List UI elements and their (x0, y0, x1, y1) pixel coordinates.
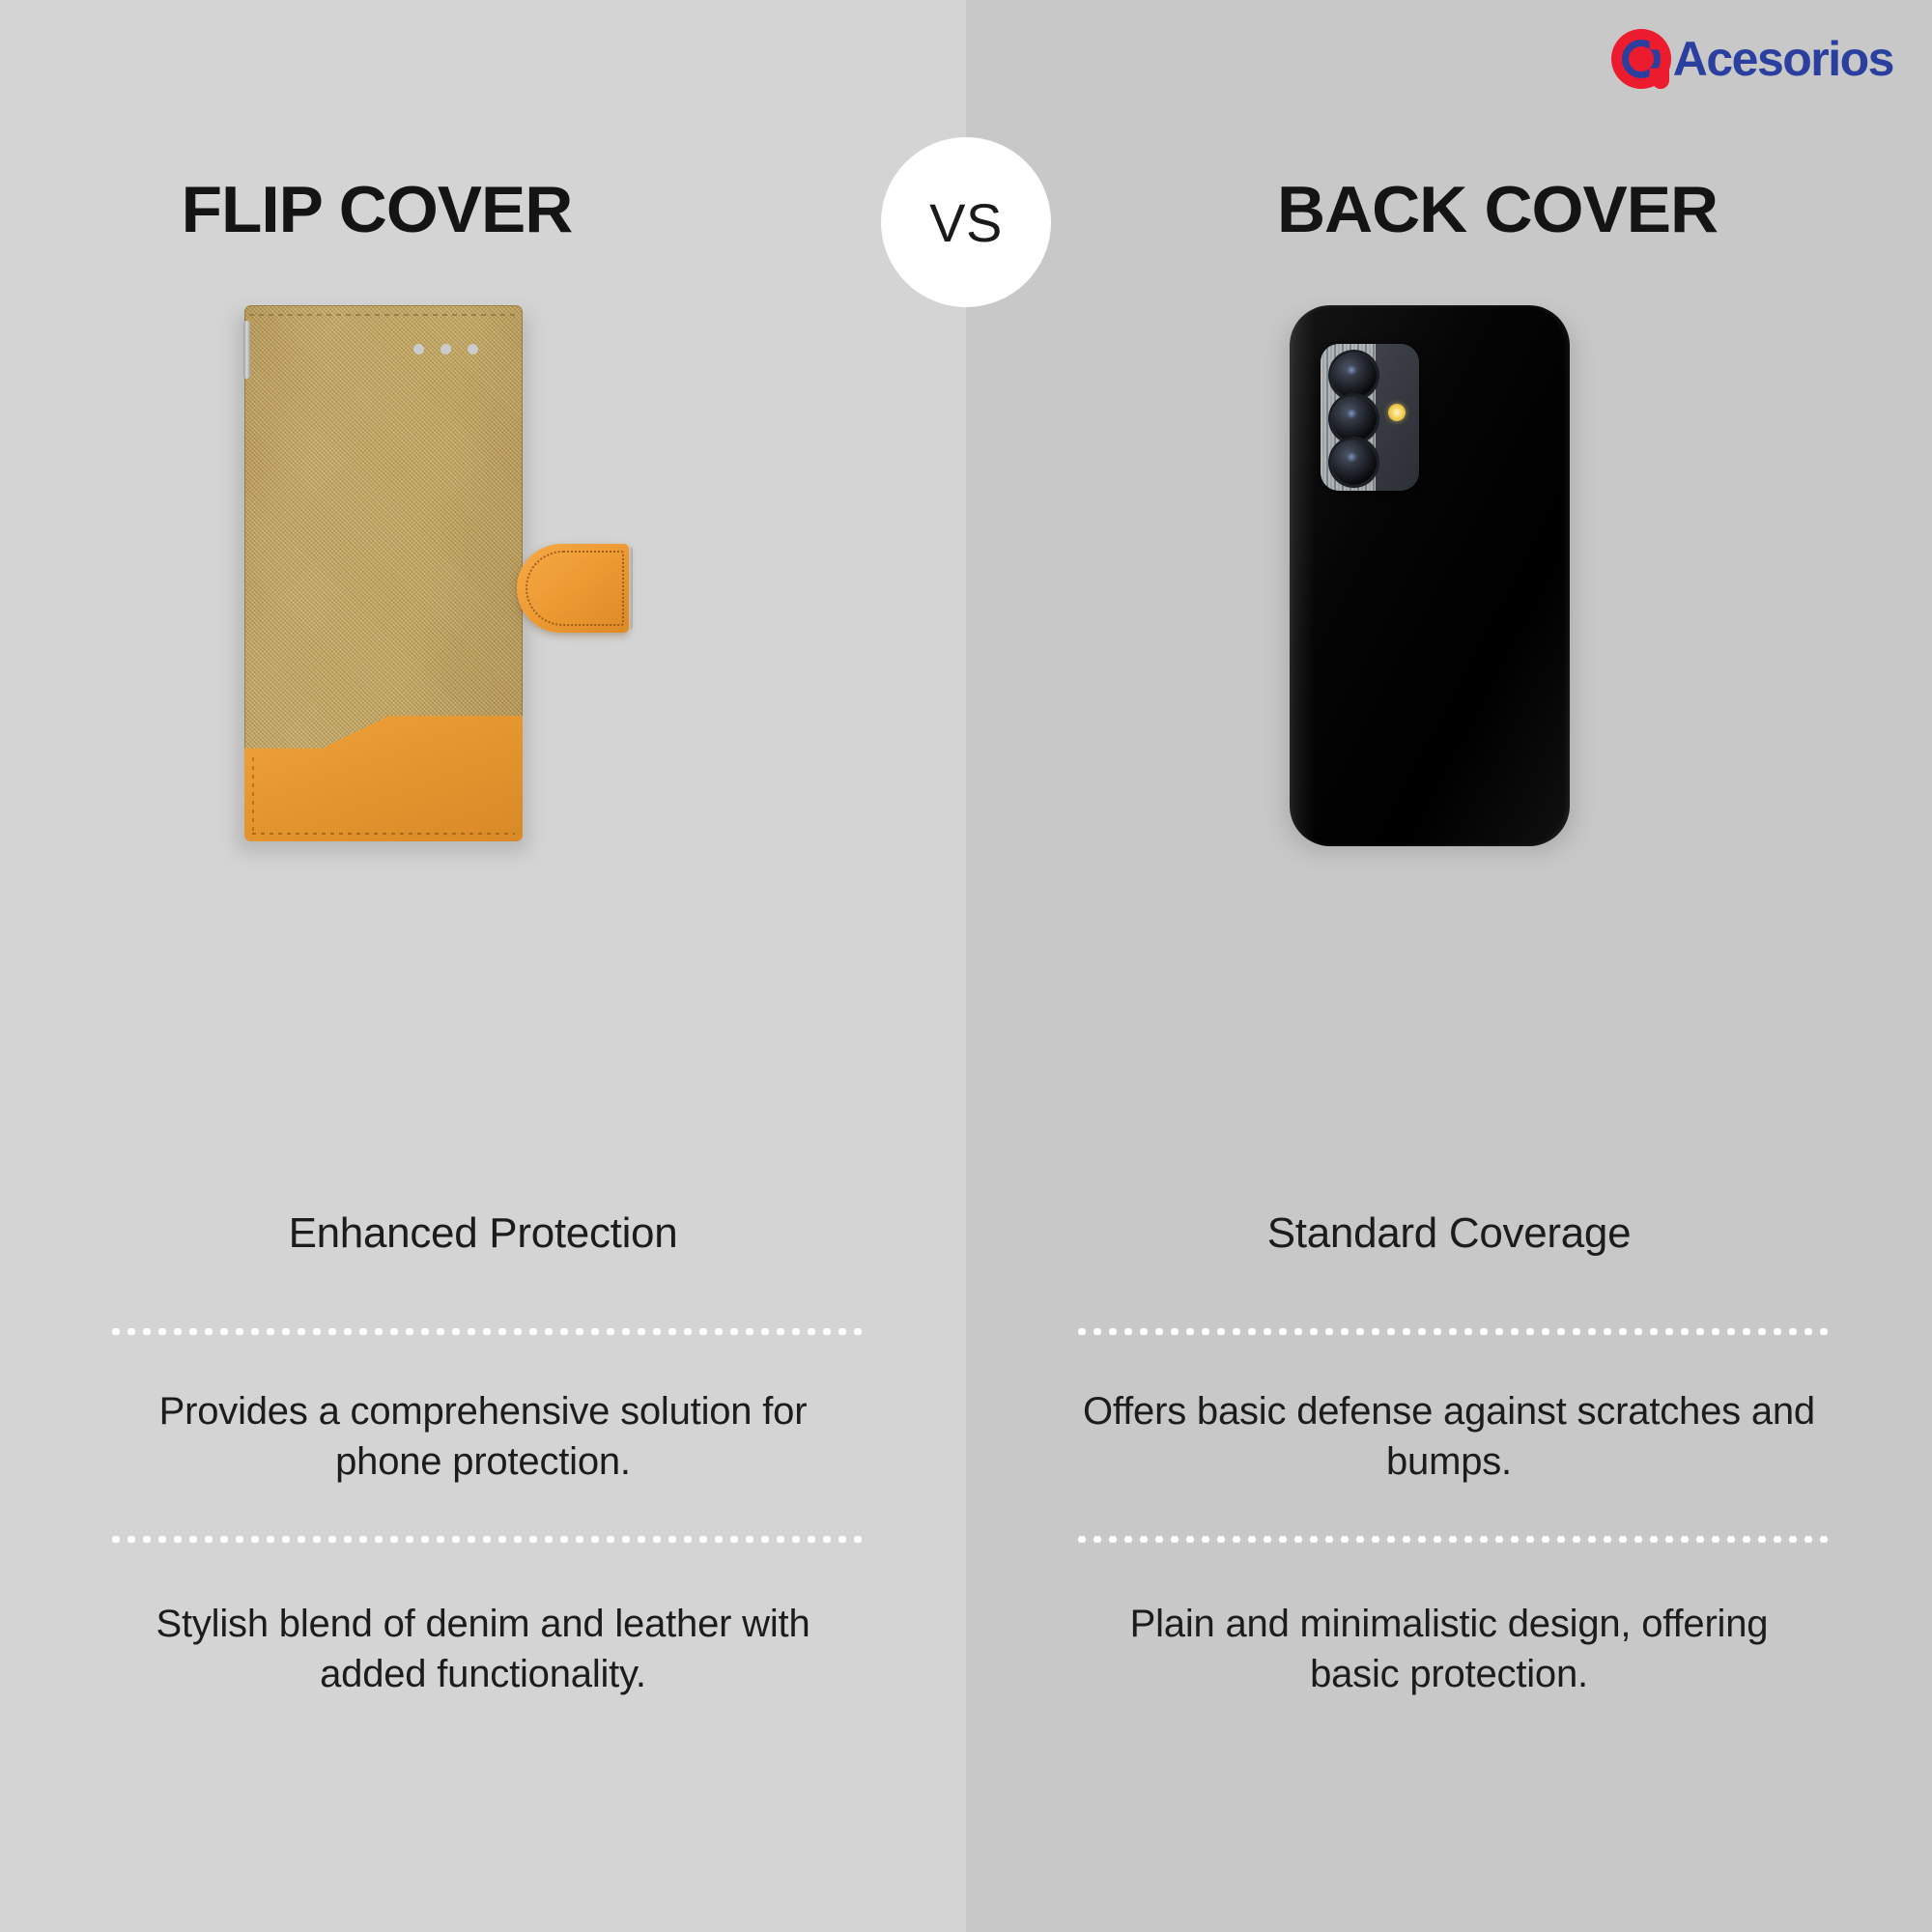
flip-cover-feature-2: Stylish blend of denim and leather with … (116, 1599, 850, 1699)
divider-right-2 (1074, 1536, 1828, 1543)
flip-cover-feature-1: Provides a comprehensive solution for ph… (116, 1386, 850, 1487)
back-cover-feature-1: Offers basic defense against scratches a… (1082, 1386, 1816, 1487)
flip-cover-magnetic-strap (517, 544, 629, 633)
divider-right-1 (1074, 1328, 1828, 1335)
back-cover-product-image (1290, 305, 1570, 846)
comparison-stage: Acesorios FLIP COVER VS BACK COVER (0, 0, 1932, 1932)
flip-cover-corner-stitching (244, 716, 523, 841)
vs-badge: VS (881, 137, 1051, 307)
flip-cover-speaker-holes (413, 344, 478, 355)
back-cover-headline: Standard Coverage (966, 1209, 1932, 1258)
back-cover-highlight (1290, 305, 1315, 846)
acesorios-logo-icon (1611, 29, 1671, 89)
column-title-flip-cover: FLIP COVER (0, 172, 761, 247)
flip-cover-hinge (243, 321, 250, 379)
back-cover-black-case (1290, 305, 1570, 846)
camera-lens-3 (1331, 440, 1377, 485)
divider-left-2 (108, 1536, 862, 1543)
back-cover-feature-2: Plain and minimalistic design, offering … (1082, 1599, 1816, 1699)
flip-cover-headline: Enhanced Protection (0, 1209, 966, 1258)
flip-cover-denim-body (244, 305, 523, 841)
brand-name: Acesorios (1673, 35, 1893, 83)
camera-flash-icon (1388, 404, 1406, 421)
brand-logo[interactable]: Acesorios (1611, 29, 1893, 89)
flip-cover-top-stitching (249, 314, 518, 316)
flip-cover-product-image (244, 305, 523, 841)
camera-lens-2 (1331, 396, 1377, 441)
column-title-back-cover: BACK COVER (1054, 172, 1932, 247)
divider-left-1 (108, 1328, 862, 1335)
camera-module-icon (1321, 344, 1419, 491)
camera-lens-1 (1331, 353, 1377, 398)
